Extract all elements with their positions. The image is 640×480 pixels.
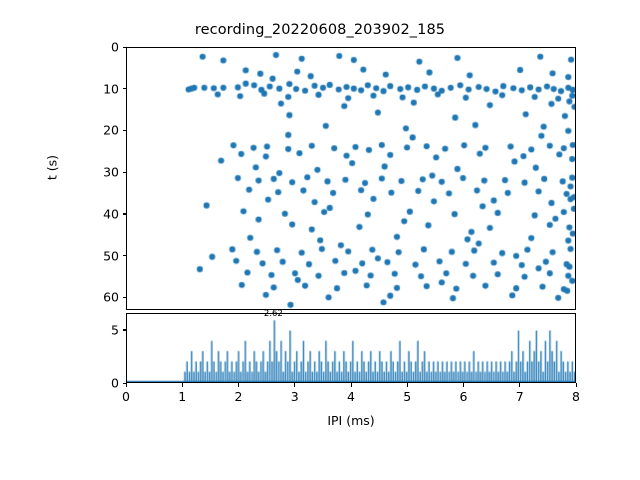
axis-tick-mark <box>463 383 464 387</box>
axis-tick-mark <box>238 383 239 387</box>
axis-tick-label: 50 <box>86 248 119 263</box>
axis-tick-mark <box>519 383 520 387</box>
scatter-plot-axes <box>126 47 576 310</box>
axis-tick-label: 40 <box>86 206 119 221</box>
axis-tick-mark <box>123 172 127 173</box>
axis-tick-label: 20 <box>86 123 119 138</box>
scatter-y-axis-label: t (s) <box>45 108 60 228</box>
axis-tick-label: 5 <box>86 322 119 337</box>
axis-tick-mark <box>123 47 127 48</box>
axis-tick-label: 2 <box>235 389 243 404</box>
axis-tick-mark <box>123 255 127 256</box>
axis-tick-label: 6 <box>460 389 468 404</box>
axis-tick-label: 7 <box>516 389 524 404</box>
axis-tick-label: 5 <box>403 389 411 404</box>
axis-tick-label: 3 <box>291 389 299 404</box>
histogram-axes <box>126 313 576 383</box>
scatter-plot-canvas <box>127 48 575 309</box>
axis-tick-mark <box>123 88 127 89</box>
histogram-x-axis-label: IPI (ms) <box>126 413 576 428</box>
axis-tick-mark <box>407 383 408 387</box>
axis-tick-label: 0 <box>86 40 119 55</box>
axis-tick-mark <box>351 383 352 387</box>
axis-tick-label: 60 <box>86 290 119 305</box>
axis-tick-mark <box>182 383 183 387</box>
histogram-peak-annotation: 2.62 <box>264 309 283 319</box>
axis-tick-mark <box>123 329 127 330</box>
matplotlib-figure: recording_20220608_203902_185 t (s) IPI … <box>0 0 640 480</box>
axis-tick-mark <box>576 383 577 387</box>
axis-tick-mark <box>123 297 127 298</box>
axis-tick-label: 1 <box>178 389 186 404</box>
figure-title: recording_20220608_203902_185 <box>0 22 640 38</box>
axis-tick-mark <box>294 383 295 387</box>
axis-tick-label: 30 <box>86 165 119 180</box>
axis-tick-mark <box>126 383 127 387</box>
axis-tick-label: 8 <box>572 389 580 404</box>
histogram-canvas <box>127 314 575 382</box>
axis-tick-mark <box>123 213 127 214</box>
axis-tick-mark <box>123 130 127 131</box>
axis-tick-label: 0 <box>86 376 119 391</box>
axis-tick-label: 4 <box>347 389 355 404</box>
axis-tick-label: 10 <box>86 81 119 96</box>
axis-tick-label: 0 <box>122 389 130 404</box>
